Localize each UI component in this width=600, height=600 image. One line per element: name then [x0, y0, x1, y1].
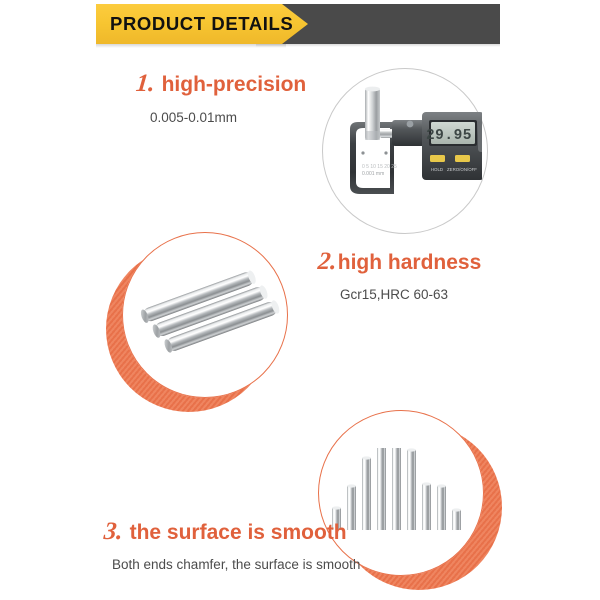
svg-text:0 5 10 15 20 25: 0 5 10 15 20 25: [362, 164, 397, 170]
feature-1-subtitle: 0.005-0.01mm: [150, 110, 306, 126]
standing-pin-cap: [407, 448, 416, 451]
feature-3-heading-label: the surface is smooth: [124, 521, 347, 544]
product-details-infographic: PRODUCT DETAILS 1. high-precision 0.005-…: [0, 0, 600, 600]
feature-2-heading-label: high hardness: [338, 251, 482, 274]
standing-pin: [437, 486, 446, 530]
standing-pin-cap: [347, 484, 356, 487]
feature-3-subtitle: Both ends chamfer, the surface is smooth: [112, 557, 360, 573]
standing-pin: [407, 450, 416, 530]
standing-pin: [422, 484, 431, 530]
header-arrow-shadow: [96, 44, 286, 48]
feature-1-number: 1.: [135, 70, 157, 98]
steel-rods-lying-icon: [132, 262, 280, 362]
page-title: PRODUCT DETAILS: [110, 4, 293, 44]
feature-2-number: 2.: [317, 248, 339, 276]
standing-pin-cap: [362, 456, 371, 459]
svg-text:0.001 mm: 0.001 mm: [362, 171, 384, 177]
header-dark-bar-shadow: [256, 44, 500, 47]
feature-block-2: 2.high hardness Gcr15,HRC 60-63: [318, 248, 481, 303]
standing-pin: [392, 448, 401, 530]
standing-pin: [362, 458, 371, 530]
svg-text:ZERO/ON/OFF: ZERO/ON/OFF: [447, 167, 477, 172]
feature-3-number: 3.: [103, 518, 125, 546]
feature-3-heading: 3. the surface is smooth: [104, 518, 360, 546]
standing-pin-cap: [437, 484, 446, 487]
standing-pin-cap: [332, 506, 341, 509]
header-banner: PRODUCT DETAILS: [96, 4, 500, 44]
feature-1-heading-label: high-precision: [156, 73, 307, 96]
standing-pin: [377, 448, 386, 530]
feature-block-3: 3. the surface is smooth Both ends chamf…: [104, 518, 360, 573]
feature-1-heading: 1. high-precision: [136, 70, 306, 98]
digital-micrometer-icon: 29.95 HOLD ZERO/ON/OFF 0 5 10 15 20 25 0…: [330, 82, 482, 204]
feature-block-1: 1. high-precision 0.005-0.01mm: [136, 70, 306, 126]
feature-2-subtitle: Gcr15,HRC 60-63: [340, 287, 481, 303]
standing-pin-cap: [452, 508, 461, 511]
standing-pin-cap: [422, 482, 431, 485]
svg-text:HOLD: HOLD: [431, 167, 443, 172]
feature-2-heading: 2.high hardness: [318, 248, 481, 276]
standing-pin: [452, 510, 461, 530]
svg-text:29.95: 29.95: [426, 128, 472, 144]
